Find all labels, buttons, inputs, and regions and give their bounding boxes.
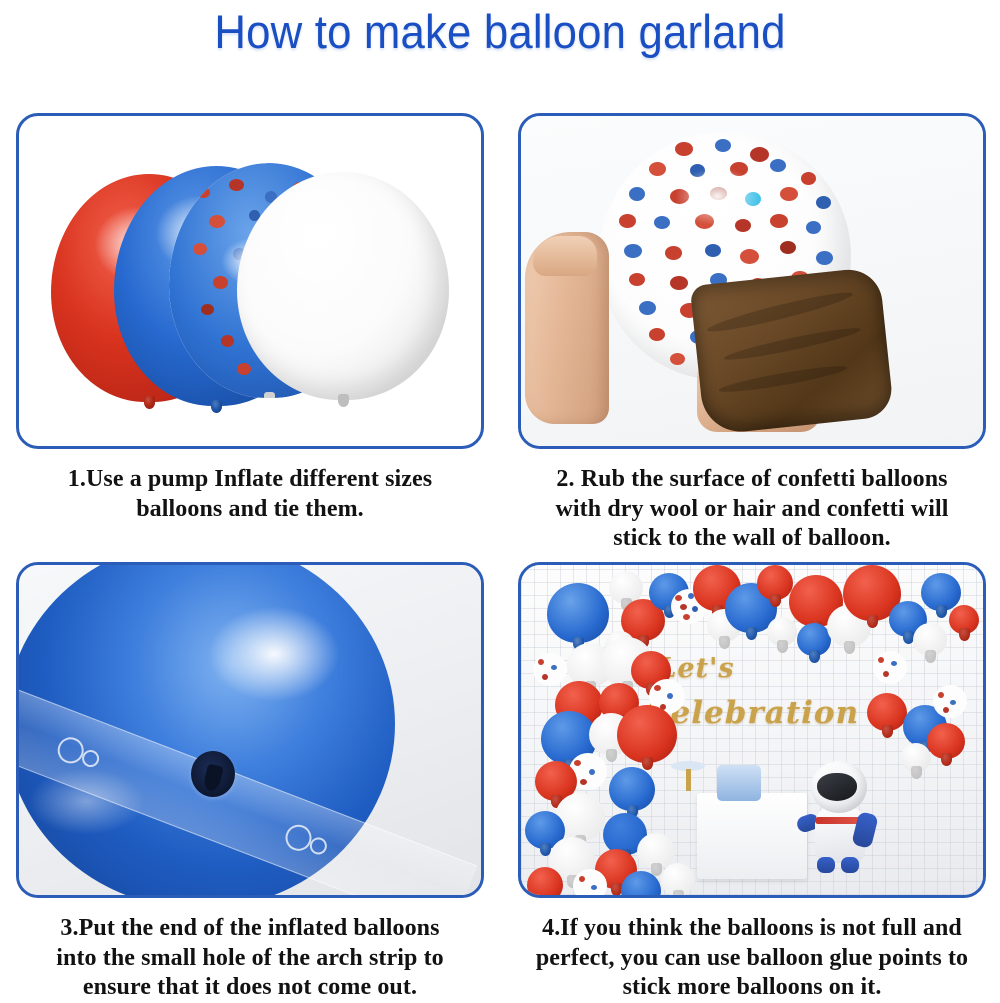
cake-table: [697, 793, 807, 879]
wool-cloth: [690, 266, 895, 435]
step-3-caption: 3.Put the end of the inflated balloons i…: [16, 914, 484, 1003]
cake-stand: [671, 761, 705, 771]
caption-line: balloons and tie them.: [16, 495, 484, 525]
scene-hand-rubbing-confetti-balloon: [521, 116, 983, 446]
caption-line: 3.Put the end of the inflated balloons: [16, 914, 484, 944]
step-4-caption: 4.If you think the balloons is not full …: [518, 914, 986, 1003]
caption-line: stick to the wall of balloon.: [518, 524, 986, 554]
hand-left: [525, 232, 609, 424]
astronaut-figure: [797, 761, 875, 873]
scene-four-balloons-row: [19, 116, 481, 446]
astronaut-visor: [817, 773, 857, 801]
step-1-caption: 1.Use a pump Inflate different sizes bal…: [16, 465, 484, 524]
scene-blue-balloon-with-arch-strip: [19, 565, 481, 895]
caption-line: ensure that it does not come out.: [16, 973, 484, 1003]
caption-line: 1.Use a pump Inflate different sizes: [16, 465, 484, 495]
white-balloon: [237, 172, 449, 400]
cake: [717, 765, 761, 801]
step-3-panel: [16, 562, 484, 898]
garland-balloon: [547, 583, 609, 643]
poster-root: How to make balloon garland: [0, 0, 1000, 1000]
caption-line: with dry wool or hair and confetti will: [518, 495, 986, 525]
caption-line: 4.If you think the balloons is not full …: [518, 914, 986, 944]
step-1-panel: [16, 113, 484, 449]
page-title: How to make balloon garland: [35, 6, 965, 58]
balloon-highlight: [208, 606, 341, 702]
caption-line: perfect, you can use balloon glue points…: [518, 944, 986, 974]
step-2-panel: [518, 113, 986, 449]
caption-line: 2. Rub the surface of confetti balloons: [518, 465, 986, 495]
step-2-caption: 2. Rub the surface of confetti balloons …: [518, 465, 986, 554]
balloon-highlight: [275, 199, 360, 267]
scene-finished-balloon-garland-arch: Let's Celebration: [521, 565, 983, 895]
step-4-panel: Let's Celebration: [518, 562, 986, 898]
caption-line: stick more balloons on it.: [518, 973, 986, 1003]
caption-line: into the small hole of the arch strip to: [16, 944, 484, 974]
